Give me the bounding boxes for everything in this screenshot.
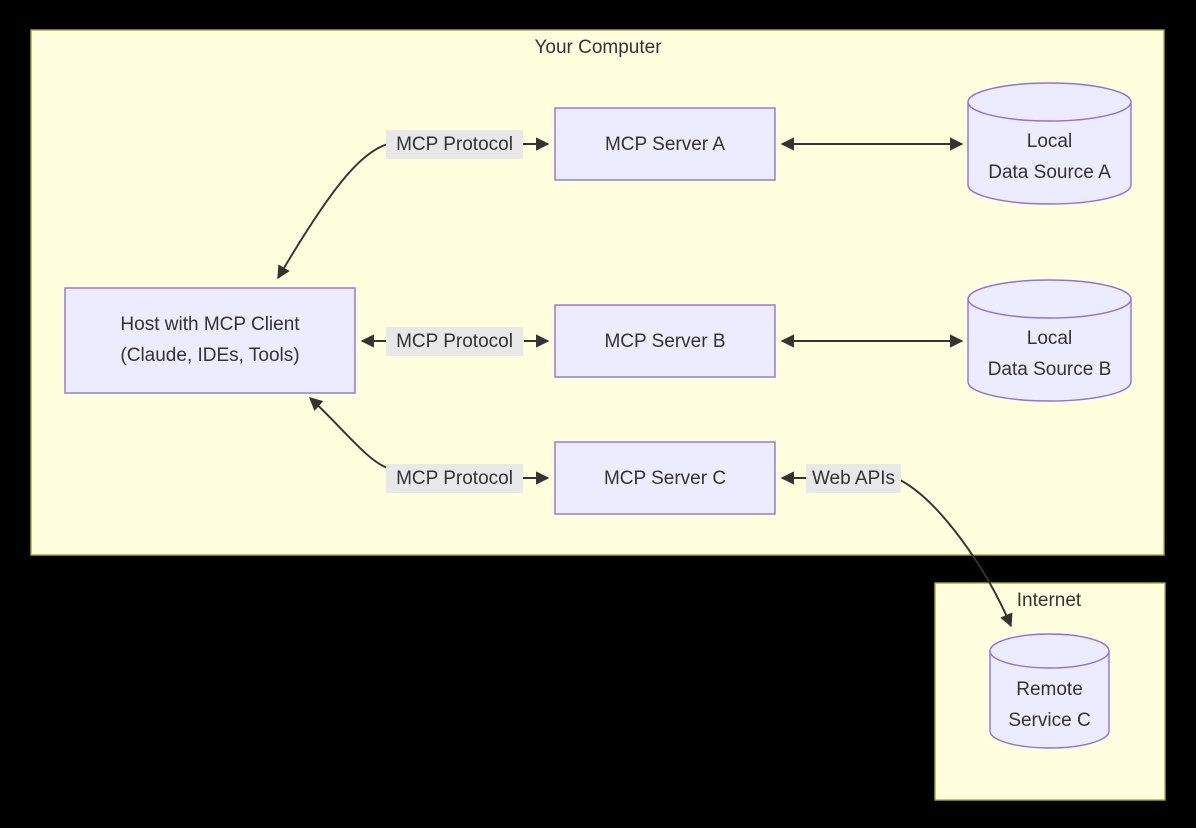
node-host-label-line1: Host with MCP Client xyxy=(120,314,300,335)
node-server-a-label: MCP Server A xyxy=(605,134,725,155)
node-server-b-label: MCP Server B xyxy=(604,331,725,352)
mcp-architecture-diagram: Your Computer Internet xyxy=(0,0,1196,828)
node-remote-service-c-label-line1: Remote xyxy=(1016,679,1083,700)
node-host-box[interactable] xyxy=(65,288,355,393)
node-server-b[interactable]: MCP Server B xyxy=(555,305,775,377)
edge-label-host-server-b: MCP Protocol xyxy=(386,327,523,356)
node-data-source-b-label-line2: Data Source B xyxy=(988,359,1112,380)
node-host[interactable]: Host with MCP Client (Claude, IDEs, Tool… xyxy=(65,288,355,393)
node-data-source-b-top xyxy=(968,280,1131,318)
edge-label-host-server-a-text: MCP Protocol xyxy=(396,134,513,155)
diagram-canvas: Your Computer Internet xyxy=(0,0,1196,828)
edge-label-web-apis: Web APIs xyxy=(806,464,901,493)
node-server-c-label: MCP Server C xyxy=(604,468,726,489)
cluster-your-computer-label: Your Computer xyxy=(534,37,662,58)
edge-label-host-server-a: MCP Protocol xyxy=(386,130,523,159)
node-data-source-a-label-line2: Data Source A xyxy=(988,162,1111,183)
node-remote-service-c[interactable]: Remote Service C xyxy=(990,634,1109,748)
node-remote-service-c-label-line2: Service C xyxy=(1008,710,1090,731)
edge-label-web-apis-text: Web APIs xyxy=(812,468,895,489)
node-server-c[interactable]: MCP Server C xyxy=(555,442,775,514)
edge-label-host-server-c-text: MCP Protocol xyxy=(396,468,513,489)
edge-label-host-server-b-text: MCP Protocol xyxy=(396,331,513,352)
edge-label-host-server-c: MCP Protocol xyxy=(386,464,523,493)
node-data-source-a[interactable]: Local Data Source A xyxy=(968,83,1131,204)
node-data-source-b[interactable]: Local Data Source B xyxy=(968,280,1131,401)
cluster-internet-label: Internet xyxy=(1017,590,1082,611)
node-host-label-line2: (Claude, IDEs, Tools) xyxy=(120,345,299,366)
node-server-a[interactable]: MCP Server A xyxy=(555,108,775,180)
node-data-source-a-label-line1: Local xyxy=(1027,131,1072,152)
node-remote-service-c-top xyxy=(990,634,1109,668)
node-data-source-b-label-line1: Local xyxy=(1027,328,1072,349)
node-data-source-a-top xyxy=(968,83,1131,121)
